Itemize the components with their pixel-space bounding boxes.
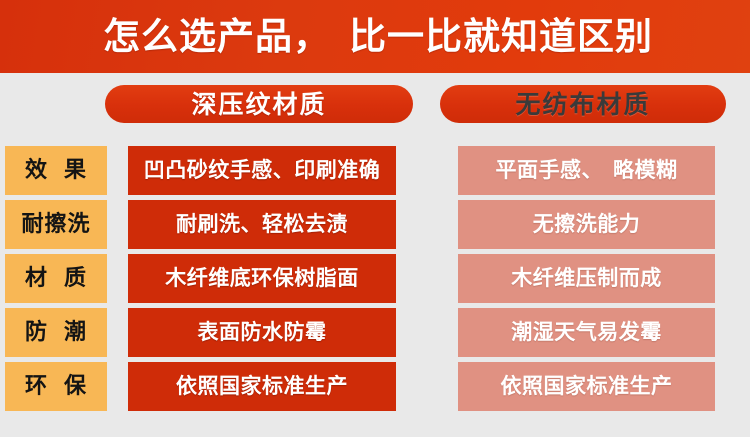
gutter (396, 146, 458, 195)
cell-good-material: 木纤维底环保树脂面 (128, 254, 396, 303)
row-label-eco-b: 保 (64, 376, 87, 398)
table-row: 环保 依照国家标准生产 依照国家标准生产 (0, 362, 750, 411)
cell-bad-scrubbable: 无擦洗能力 (458, 200, 715, 249)
cell-good-moisture: 表面防水防霉 (128, 308, 396, 357)
gutter (396, 362, 458, 411)
row-label-moisture-b: 潮 (64, 322, 87, 344)
cell-good-eco: 依照国家标准生产 (128, 362, 396, 411)
column-header-bad: 无纺布材质 (440, 85, 726, 123)
comparison-grid: 效果 凹凸砂纹手感、印刷准确 平面手感、略模糊 耐擦洗 耐刷洗、轻松去渍 无擦洗… (0, 146, 750, 416)
row-label-eco-a: 环 (25, 376, 48, 398)
table-row: 耐擦洗 耐刷洗、轻松去渍 无擦洗能力 (0, 200, 750, 249)
gutter (107, 308, 128, 357)
gutter (396, 254, 458, 303)
cell-good-effect: 凹凸砂纹手感、印刷准确 (128, 146, 396, 195)
cell-bad-material: 木纤维压制而成 (458, 254, 715, 303)
gutter (107, 254, 128, 303)
row-label-moisture: 防潮 (5, 308, 107, 357)
banner: 怎么选产品，比一比就知道区别 (0, 0, 750, 73)
banner-title-part1: 怎么选产品， (103, 15, 331, 58)
cell-good-scrubbable: 耐刷洗、轻松去渍 (128, 200, 396, 249)
row-label-eco: 环保 (5, 362, 107, 411)
cell-bad-effect-b: 略模糊 (613, 160, 678, 181)
banner-title: 怎么选产品，比一比就知道区别 (97, 18, 653, 55)
row-label-material: 材质 (5, 254, 107, 303)
row-label-material-b: 质 (64, 268, 87, 290)
column-header-bad-label: 无纺布材质 (515, 92, 650, 117)
cell-bad-effect: 平面手感、略模糊 (458, 146, 715, 195)
table-row: 材质 木纤维底环保树脂面 木纤维压制而成 (0, 254, 750, 303)
gutter (107, 362, 128, 411)
row-label-effect: 效果 (5, 146, 107, 195)
gutter (107, 146, 128, 195)
cell-bad-eco: 依照国家标准生产 (458, 362, 715, 411)
row-label-effect-b: 果 (64, 160, 87, 182)
comparison-poster: 怎么选产品，比一比就知道区别 深压纹材质 无纺布材质 效果 凹凸砂纹手感、印刷准… (0, 0, 750, 437)
table-row: 防潮 表面防水防霉 潮湿天气易发霉 (0, 308, 750, 357)
gutter (396, 308, 458, 357)
row-label-material-a: 材 (25, 268, 48, 290)
cell-bad-effect-a: 平面手感、 (496, 160, 604, 181)
cell-bad-moisture: 潮湿天气易发霉 (458, 308, 715, 357)
gutter (107, 200, 128, 249)
table-row: 效果 凹凸砂纹手感、印刷准确 平面手感、略模糊 (0, 146, 750, 195)
gutter (396, 200, 458, 249)
row-label-scrubbable: 耐擦洗 (5, 200, 107, 249)
column-header-good-label: 深压纹材质 (191, 92, 326, 117)
column-header-good: 深压纹材质 (105, 85, 413, 123)
banner-title-part2: 比一比就知道区别 (349, 15, 653, 58)
row-label-effect-a: 效 (25, 160, 48, 182)
row-label-moisture-a: 防 (25, 322, 48, 344)
